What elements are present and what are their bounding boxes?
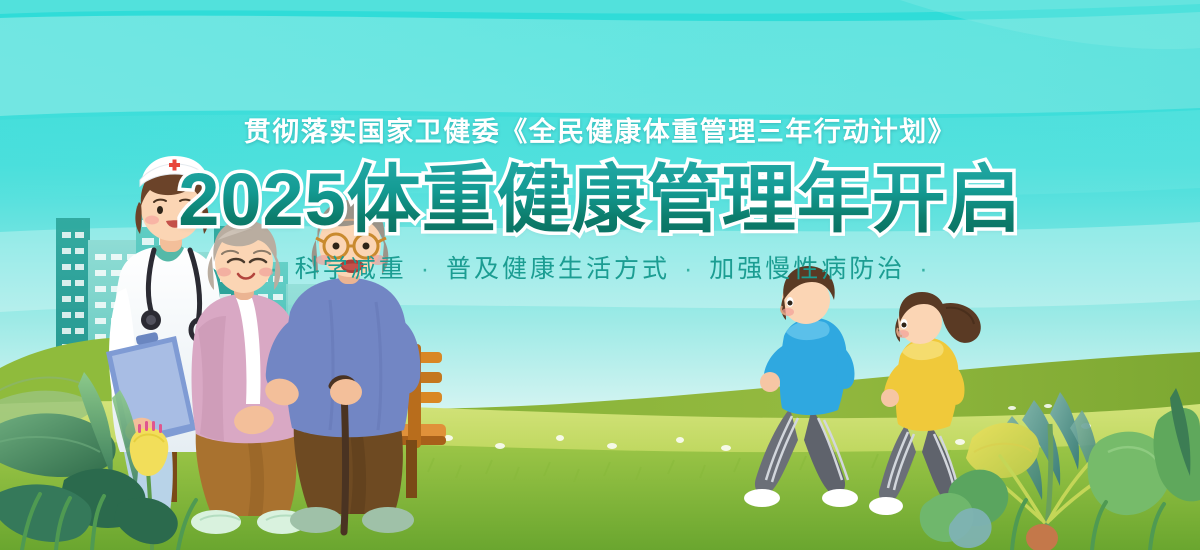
health-campaign-banner: 贯彻落实国家卫健委《全民健康体重管理三年行动计划》 2025体重健康管理年开启 … xyxy=(0,0,1200,550)
foliage-right xyxy=(920,388,1200,550)
foreground-foliage xyxy=(0,0,1200,550)
foliage-left xyxy=(0,372,196,550)
